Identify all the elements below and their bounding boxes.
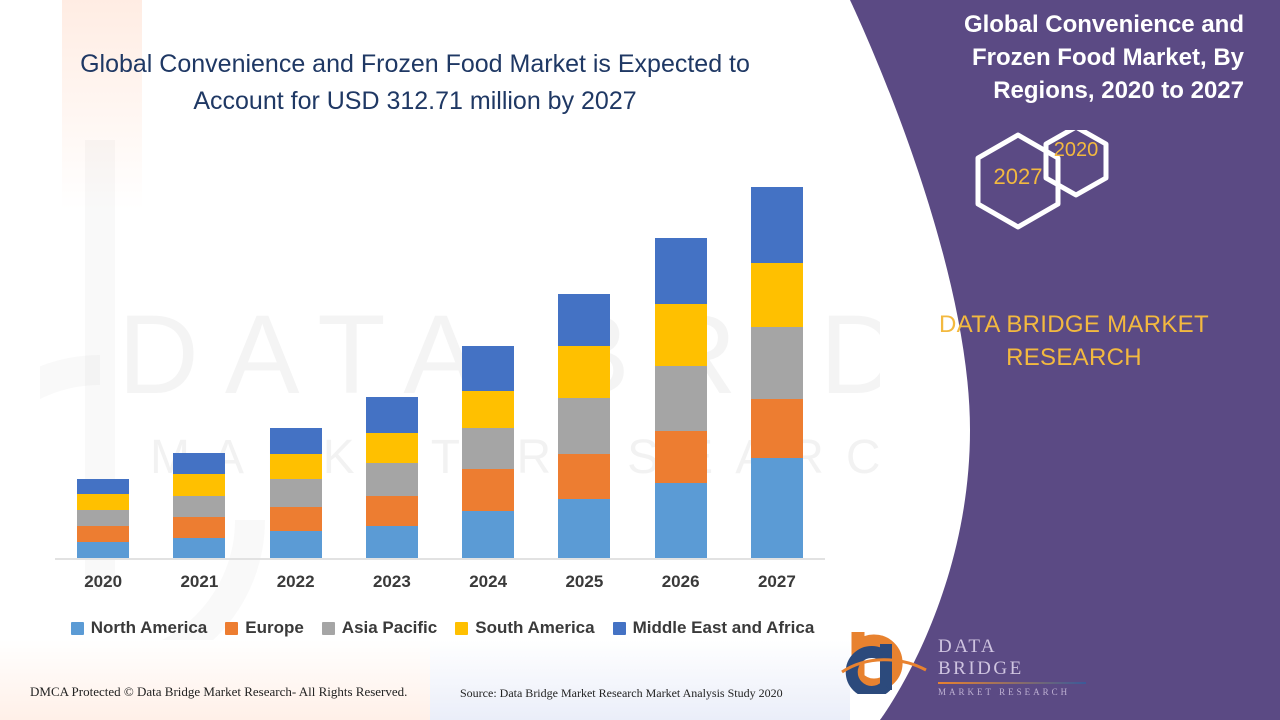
legend-item[interactable]: South America	[455, 618, 594, 638]
x-axis-label: 2023	[344, 572, 440, 598]
bar-column	[248, 153, 344, 558]
bar-segment	[751, 263, 803, 327]
bar-segment	[173, 453, 225, 474]
x-axis-label: 2021	[151, 572, 247, 598]
bar-segment	[462, 511, 514, 558]
bar-segment	[462, 391, 514, 428]
legend-item[interactable]: Asia Pacific	[322, 618, 437, 638]
bar-segment	[751, 458, 803, 558]
bar-segment	[173, 538, 225, 558]
legend-swatch-icon	[71, 622, 84, 635]
legend-swatch-icon	[613, 622, 626, 635]
bar-segment	[173, 496, 225, 517]
x-axis-label: 2027	[729, 572, 825, 598]
legend-label: Europe	[245, 618, 304, 638]
stacked-bar-chart	[55, 150, 825, 560]
x-axis-label: 2025	[536, 572, 632, 598]
bar-segment	[173, 474, 225, 496]
bar-segment	[366, 463, 418, 496]
bar-segment	[462, 428, 514, 469]
bar-segment	[751, 187, 803, 263]
bar-segment	[558, 454, 610, 499]
bar-segment	[366, 496, 418, 526]
bar-segment	[655, 304, 707, 366]
stacked-bar	[366, 397, 418, 558]
bar-segment	[270, 507, 322, 531]
brand-panel: Global Convenience and Frozen Food Marke…	[820, 0, 1280, 720]
bar-segment	[558, 499, 610, 558]
hexagon-small-label: 2020	[1046, 139, 1106, 162]
legend-item[interactable]: Middle East and Africa	[613, 618, 815, 638]
x-axis-label: 2022	[248, 572, 344, 598]
stacked-bar	[77, 479, 129, 558]
watermark-tint-bottom-right	[430, 640, 850, 720]
x-axis-label: 2020	[55, 572, 151, 598]
bar-segment	[77, 479, 129, 494]
bar-segment	[462, 469, 514, 511]
dbmr-logo-divider	[938, 682, 1086, 684]
bar-segment	[77, 526, 129, 542]
bar-segment	[366, 397, 418, 433]
bar-segment	[558, 346, 610, 398]
bar-column	[729, 153, 825, 558]
page-title: Global Convenience and Frozen Food Marke…	[60, 46, 770, 120]
legend-item[interactable]: North America	[71, 618, 208, 638]
stacked-bar	[558, 294, 610, 558]
chart-x-axis-labels: 20202021202220232024202520262027	[55, 572, 825, 598]
legend-label: South America	[475, 618, 594, 638]
bar-segment	[462, 346, 514, 391]
x-axis-label: 2026	[633, 572, 729, 598]
bar-segment	[270, 479, 322, 507]
stacked-bar	[751, 187, 803, 558]
legend-swatch-icon	[322, 622, 335, 635]
stacked-bar	[270, 428, 322, 558]
bar-segment	[173, 517, 225, 538]
infographic-canvas: DATA BRIDGE MARKET RESEARCH Global Conve…	[0, 0, 1280, 720]
chart-axis-line	[55, 558, 825, 560]
legend-label: North America	[91, 618, 208, 638]
dbmr-logo-mark-icon	[840, 628, 932, 694]
bar-column	[55, 153, 151, 558]
chart-bars	[55, 153, 825, 558]
bar-column	[440, 153, 536, 558]
bar-segment	[366, 526, 418, 558]
bar-segment	[751, 327, 803, 399]
dbmr-logo-line2: MARKET RESEARCH	[938, 687, 1088, 697]
bar-column	[536, 153, 632, 558]
dbmr-logo-line1: DATA BRIDGE	[938, 636, 1088, 680]
bar-segment	[751, 399, 803, 458]
chart-legend: North AmericaEuropeAsia PacificSouth Ame…	[55, 615, 830, 641]
bar-segment	[655, 431, 707, 483]
bar-segment	[558, 398, 610, 454]
source-note: Source: Data Bridge Market Research Mark…	[460, 686, 783, 701]
dbmr-logo-text: DATA BRIDGE MARKET RESEARCH	[938, 636, 1088, 697]
hexagon-large-label: 2027	[978, 164, 1058, 190]
bar-segment	[77, 510, 129, 526]
stacked-bar	[655, 238, 707, 558]
legend-swatch-icon	[225, 622, 238, 635]
bar-segment	[655, 366, 707, 431]
stacked-bar	[173, 453, 225, 558]
bar-segment	[558, 294, 610, 346]
bar-column	[151, 153, 247, 558]
x-axis-label: 2024	[440, 572, 536, 598]
bar-segment	[77, 542, 129, 558]
hexagon-group: 2027 2020	[930, 130, 1150, 270]
bar-segment	[270, 531, 322, 558]
legend-label: Middle East and Africa	[633, 618, 815, 638]
bar-segment	[655, 238, 707, 304]
dmca-notice: DMCA Protected © Data Bridge Market Rese…	[30, 684, 407, 700]
bar-column	[344, 153, 440, 558]
bar-column	[633, 153, 729, 558]
dbmr-logo: DATA BRIDGE MARKET RESEARCH	[840, 628, 1080, 698]
watermark-tint-bottom-left	[0, 640, 430, 720]
bar-segment	[366, 433, 418, 463]
bar-segment	[77, 494, 129, 510]
bar-segment	[270, 428, 322, 454]
bar-segment	[655, 483, 707, 558]
legend-swatch-icon	[455, 622, 468, 635]
bar-segment	[270, 454, 322, 479]
legend-label: Asia Pacific	[342, 618, 437, 638]
brand-name: DATA BRIDGE MARKET RESEARCH	[904, 308, 1244, 374]
stacked-bar	[462, 346, 514, 558]
panel-title: Global Convenience and Frozen Food Marke…	[889, 8, 1244, 107]
legend-item[interactable]: Europe	[225, 618, 304, 638]
